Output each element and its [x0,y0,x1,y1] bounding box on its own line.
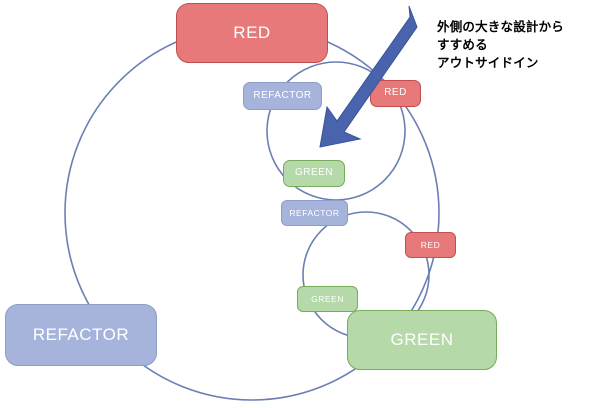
annotation-line-2: すすめる [437,36,597,54]
outside-in-arrow-icon [320,6,417,147]
outside-in-annotation: 外側の大きな設計から すすめる アウトサイドイン [437,18,597,72]
tdd-outside-in-diagram: RED GREEN REFACTOR REFACTOR RED GREEN RE… [0,0,600,408]
annotation-line-3: アウトサイドイン [437,54,597,72]
annotation-line-1: 外側の大きな設計から [437,18,597,36]
